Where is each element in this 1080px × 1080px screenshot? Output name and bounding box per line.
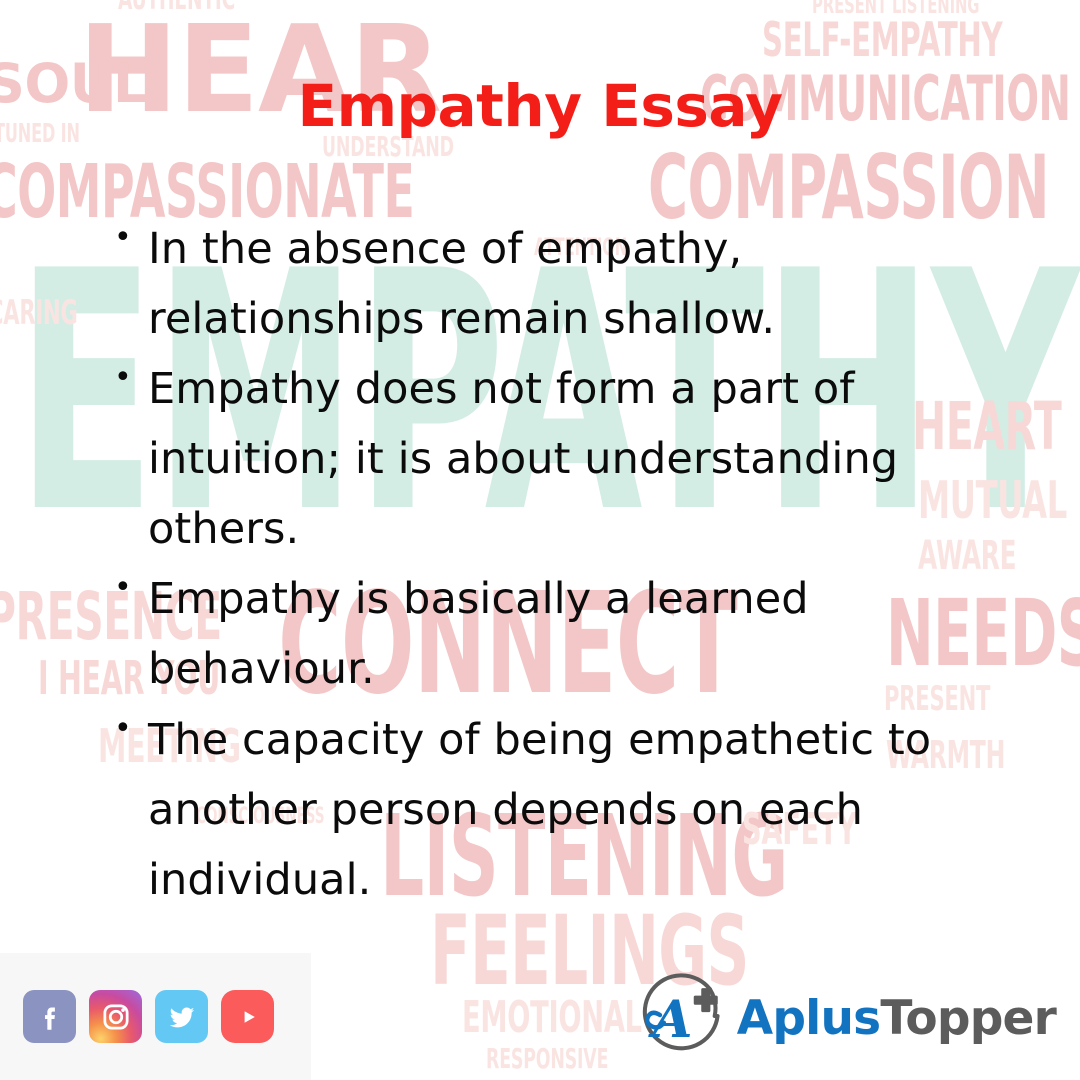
- background-word: SELF-EMPATHY: [762, 22, 1002, 61]
- twitter-icon[interactable]: [155, 990, 208, 1043]
- bullet-list: In the absence of empathy, relationships…: [104, 214, 1024, 915]
- brand-name-topper: Topper: [880, 991, 1056, 1046]
- instagram-icon[interactable]: [89, 990, 142, 1043]
- list-item: The capacity of being empathetic to anot…: [104, 705, 1024, 915]
- background-word: AUTHENTIC: [118, 0, 235, 13]
- brand-logo: A AplusTopper: [635, 968, 1056, 1069]
- background-word: EMOTIONAL: [462, 1000, 642, 1036]
- essay-graphic: AUTHENTICHEARSOULTUNED INUNDERSTANDCOMPA…: [0, 0, 1080, 1080]
- brand-name: AplusTopper: [737, 995, 1056, 1042]
- background-word: CARING: [0, 300, 78, 328]
- list-item: Empathy is basically a learned behaviour…: [104, 564, 1024, 704]
- youtube-icon[interactable]: [221, 990, 274, 1043]
- background-word: RESPONSIVE: [486, 1048, 608, 1071]
- background-word: PRESENT LISTENING: [812, 0, 979, 16]
- aplus-mark-icon: A: [635, 968, 731, 1069]
- page-title: Empathy Essay: [0, 72, 1080, 140]
- brand-name-aplus: Aplus: [737, 991, 881, 1046]
- list-item: Empathy does not form a part of intuitio…: [104, 354, 1024, 564]
- list-item: In the absence of empathy, relationships…: [104, 214, 1024, 354]
- facebook-icon[interactable]: [23, 990, 76, 1043]
- svg-text:A: A: [647, 989, 692, 1050]
- social-links-bar: [0, 953, 311, 1080]
